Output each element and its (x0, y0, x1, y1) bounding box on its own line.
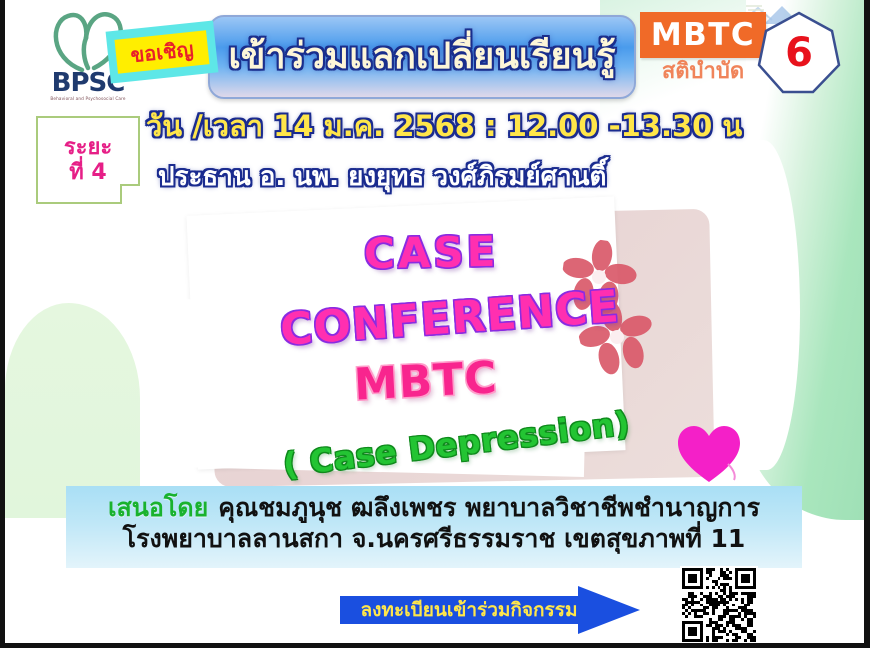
session-number-badge: 6 (756, 10, 842, 96)
qr-code-grid (682, 568, 756, 642)
bpsc-tagline: Behavioral and Psychosocial Care (36, 96, 140, 102)
phase-note-fold-corner (120, 184, 140, 204)
page-title: เข้าร่วมแลกเปลี่ยนเรียนรู้ (228, 39, 615, 75)
phase-note-line2: ที่ 4 (69, 160, 106, 185)
frame-edge-right (864, 0, 870, 648)
phase-note-line1: ระยะ (64, 135, 112, 160)
mbtc-wordmark: MBTC (651, 20, 755, 51)
mbtc-logo: MBTC สติบำบัด (640, 12, 768, 100)
date-time-line: วัน /เวลา 14 ม.ค. 2568 : 12.00 -13.30 น (146, 112, 742, 141)
mbtc-wordmark-block: MBTC (640, 12, 766, 58)
heart-icon (676, 424, 742, 486)
invite-badge-inner: ขอเชิญ (114, 30, 209, 73)
frame-edge-left (0, 0, 5, 648)
register-button[interactable]: ลงทะเบียนเข้าร่วมกิจกรรม (340, 586, 640, 634)
frame-edge-bottom (0, 643, 870, 648)
headline-line-3: MBTC (353, 356, 499, 407)
invite-badge: ขอเชิญ (106, 20, 219, 83)
phase-note: ระยะ ที่ 4 (36, 116, 140, 204)
mbtc-subtitle: สติบำบัด (640, 61, 766, 83)
register-button-label: ลงทะเบียนเข้าร่วมกิจกรรม (340, 586, 598, 634)
session-number: 6 (756, 10, 842, 96)
presenter-label: เสนอโดย (108, 494, 208, 523)
invite-badge-label: ขอเชิญ (130, 39, 195, 65)
chairperson-line: ประธาน อ. นพ. ยงยุทธ วงศ์ภิรมย์ศานติ์ (158, 164, 606, 190)
presenter-row: เสนอโดย คุณชมภูนุช ฒลึงเพชร พยาบาลวิชาชี… (66, 494, 802, 523)
presenter-affiliation: โรงพยาบาลลานสกา จ.นครศรีธรรมราช เขตสุขภา… (66, 525, 802, 554)
qr-code-icon[interactable] (680, 566, 758, 644)
headline-line-1: CASE (364, 231, 499, 275)
poster-title-bar: เข้าร่วมแลกเปลี่ยนเรียนรู้ (208, 15, 636, 99)
poster-canvas: BPSC Behavioral and Psychosocial Care ขอ… (0, 0, 870, 648)
presenter-panel: เสนอโดย คุณชมภูนุช ฒลึงเพชร พยาบาลวิชาชี… (66, 486, 802, 568)
presenter-name: คุณชมภูนุช ฒลึงเพชร พยาบาลวิชาชีพชำนาญกา… (218, 494, 760, 523)
